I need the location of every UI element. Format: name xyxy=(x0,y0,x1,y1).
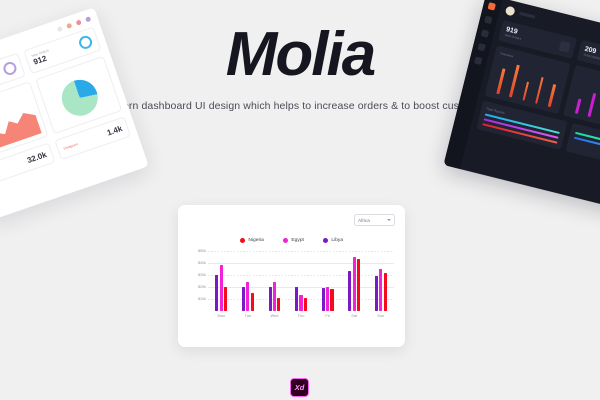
bar xyxy=(242,287,245,311)
sidebar-item-chart xyxy=(484,16,492,24)
legend-item[interactable]: Nigeria xyxy=(240,238,264,243)
bar xyxy=(548,84,556,107)
legend-item[interactable]: Libya xyxy=(323,238,343,243)
bar xyxy=(384,273,387,311)
bar xyxy=(322,288,325,311)
bar xyxy=(588,93,596,117)
adobe-xd-badge-label: Xd xyxy=(295,383,305,392)
sidebar-item-users xyxy=(477,43,485,51)
bar xyxy=(535,77,544,104)
sidebar-item-settings xyxy=(474,56,482,64)
pie-chart xyxy=(57,75,103,121)
bar xyxy=(295,287,298,311)
bar-group xyxy=(261,251,288,311)
bar xyxy=(353,257,356,311)
chart-legend: NigeriaEgyptLibya xyxy=(189,238,394,243)
legend-label: Egypt xyxy=(291,238,304,243)
legend-swatch xyxy=(283,238,288,243)
region-dropdown-value: Africa xyxy=(358,218,370,223)
bar-groups xyxy=(208,251,394,311)
x-axis-tick-label: Sun xyxy=(367,313,394,318)
y-axis-tick-label: $50k xyxy=(198,249,206,253)
x-axis-tick-label: Fri xyxy=(314,313,341,318)
bar-group xyxy=(367,251,394,311)
bar xyxy=(304,298,307,311)
x-axis: MonTueWedThuFriSatSun xyxy=(208,313,394,318)
legend-swatch xyxy=(240,238,245,243)
bar-group xyxy=(288,251,315,311)
bar xyxy=(575,99,581,114)
bar-group xyxy=(235,251,262,311)
bar-group xyxy=(341,251,368,311)
sidebar-item-home xyxy=(488,2,496,10)
bar xyxy=(269,287,272,311)
bell-icon xyxy=(66,23,72,29)
header-placeholder xyxy=(519,12,535,19)
bar xyxy=(299,295,302,311)
progress-ring-icon xyxy=(77,34,94,51)
x-axis-tick-label: Thu xyxy=(288,313,315,318)
bar-group xyxy=(314,251,341,311)
legend-label: Nigeria xyxy=(248,238,264,243)
region-dropdown[interactable]: Africa xyxy=(354,214,395,226)
bar xyxy=(379,269,382,311)
stat-accent-label: Instagram xyxy=(63,142,79,151)
x-axis-tick-label: Mon xyxy=(208,313,235,318)
bar-group xyxy=(208,251,235,311)
bar xyxy=(330,289,333,311)
y-axis-tick-label: $20k xyxy=(198,285,206,289)
stat-value: 32.0k xyxy=(26,150,48,165)
bar xyxy=(224,287,227,311)
y-axis: $10k$20k$30k$40k$50k xyxy=(189,251,207,311)
sidebar-item-edit xyxy=(481,29,489,37)
logo-icon xyxy=(505,6,516,17)
bar xyxy=(246,282,249,311)
bar xyxy=(251,293,254,311)
bar xyxy=(220,265,223,311)
stat-value: 1.4k xyxy=(106,124,124,138)
bar xyxy=(348,271,351,311)
x-axis-tick-label: Tue xyxy=(235,313,262,318)
legend-swatch xyxy=(323,238,328,243)
bar xyxy=(277,298,280,311)
chart-plot-area: $10k$20k$30k$40k$50k MonTueWedThuFriSatS… xyxy=(189,251,394,323)
legend-item[interactable]: Egypt xyxy=(283,238,304,243)
y-axis-tick-label: $30k xyxy=(198,273,206,277)
bar xyxy=(497,68,506,94)
progress-ring-icon xyxy=(2,60,19,77)
chart-card: Africa NigeriaEgyptLibya $10k$20k$30k$40… xyxy=(178,205,405,347)
bar xyxy=(215,275,218,311)
x-axis-tick-label: Wed xyxy=(261,313,288,318)
search-icon xyxy=(57,26,63,32)
bar xyxy=(326,287,329,311)
bar-chart xyxy=(570,76,600,128)
avatar xyxy=(76,19,82,25)
y-axis-tick-label: $40k xyxy=(198,261,206,265)
menu-icon xyxy=(85,16,91,22)
legend-label: Libya xyxy=(331,238,343,243)
metrics-card xyxy=(565,123,600,167)
bar xyxy=(357,259,360,311)
bar xyxy=(509,65,519,97)
adobe-xd-badge: Xd xyxy=(290,378,309,397)
bar xyxy=(522,81,529,100)
bar xyxy=(375,276,378,311)
chevron-down-icon xyxy=(387,219,391,221)
x-axis-tick-label: Sat xyxy=(341,313,368,318)
y-axis-tick-label: $10k xyxy=(198,297,206,301)
bar xyxy=(273,282,276,311)
card-icon xyxy=(559,40,571,52)
